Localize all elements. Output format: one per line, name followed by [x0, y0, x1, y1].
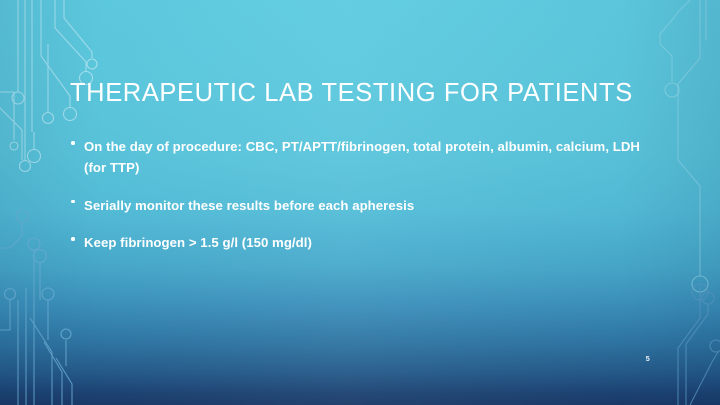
- presentation-slide: Therapeutic lab testing for patients On …: [0, 0, 720, 405]
- list-item: Keep fibrinogen > 1.5 g/l (150 mg/dl): [70, 232, 650, 253]
- page-number: 5: [646, 354, 650, 363]
- list-item-text: Serially monitor these results before ea…: [84, 198, 414, 213]
- list-item-text: Keep fibrinogen > 1.5 g/l (150 mg/dl): [84, 235, 312, 250]
- slide-content: Therapeutic lab testing for patients On …: [0, 0, 720, 405]
- list-item: Serially monitor these results before ea…: [70, 195, 650, 216]
- page-title: Therapeutic lab testing for patients: [70, 79, 650, 108]
- bullet-dot-icon: [71, 200, 75, 204]
- list-item-text: On the day of procedure: CBC, PT/APTT/fi…: [84, 139, 640, 175]
- bullet-list: On the day of procedure: CBC, PT/APTT/fi…: [70, 136, 650, 254]
- list-item: On the day of procedure: CBC, PT/APTT/fi…: [70, 136, 650, 179]
- bullet-dot-icon: [71, 237, 75, 241]
- bullet-dot-icon: [71, 141, 75, 145]
